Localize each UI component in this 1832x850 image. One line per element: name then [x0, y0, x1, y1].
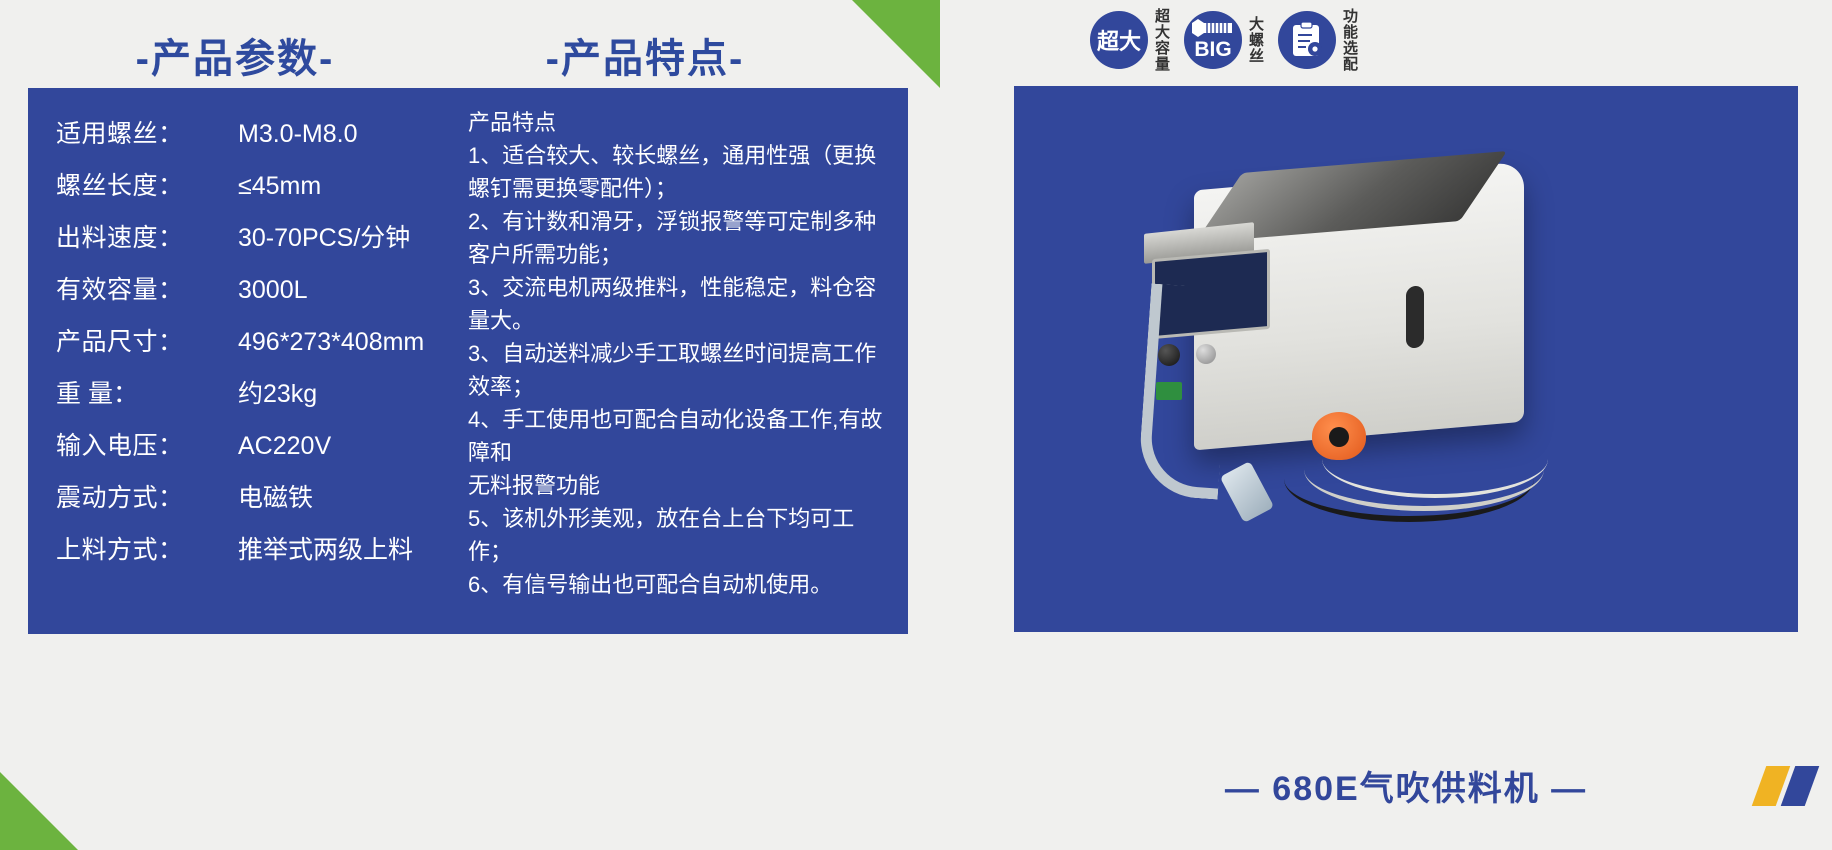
spec-label: 出料速度： — [56, 218, 224, 254]
machine-illustration — [1134, 136, 1564, 486]
spec-label: 上料方式： — [56, 530, 224, 566]
badge-caption: 大螺丝 — [1246, 16, 1264, 64]
green-corner-decoration-bottom — [0, 772, 78, 850]
feature-item: 无料报警功能 — [468, 469, 886, 502]
spec-label: 有效容量： — [56, 270, 224, 306]
feature-item: 1、适合较大、较长螺丝，通用性强（更换螺钉需更换零配件）； — [468, 139, 886, 205]
feature-item: 6、有信号输出也可配合自动机使用。 — [468, 568, 886, 601]
feature-item: 3、交流电机两级推料，性能稳定，料仓容量大。 — [468, 271, 886, 337]
screw-icon: BIG — [1184, 11, 1242, 69]
feature-badges: 超大 超大容量 BIG 大螺丝 — [1090, 8, 1358, 72]
badge-caption: 功能选配 — [1340, 8, 1358, 72]
spec-label: 适用螺丝： — [56, 114, 224, 150]
spec-label: 螺丝长度： — [56, 166, 224, 202]
spec-value: M3.0-M8.0 — [224, 120, 357, 149]
spec-table: 适用螺丝： M3.0-M8.0 螺丝长度： ≤45mm 出料速度： 30-70P… — [56, 114, 476, 582]
badge-big-screw: BIG 大螺丝 — [1184, 11, 1264, 69]
machine-connector — [1220, 461, 1274, 523]
spec-label: 产品尺寸： — [56, 322, 224, 358]
spec-value: 30-70PCS/分钟 — [224, 218, 410, 254]
spec-value: 约23kg — [224, 374, 317, 410]
product-photo — [1014, 86, 1798, 632]
badge-circle-label: BIG — [1194, 38, 1231, 62]
feature-item: 2、有计数和滑牙，浮锁报警等可定制多种客户所需功能； — [468, 205, 886, 271]
spec-label: 震动方式： — [56, 478, 224, 514]
features-text-block: 产品特点 1、适合较大、较长螺丝，通用性强（更换螺钉需更换零配件）； 2、有计数… — [468, 106, 886, 601]
features-title: 产品特点 — [468, 106, 886, 139]
clipboard-gear-icon — [1278, 11, 1336, 69]
heading-product-features: -产品特点- — [470, 26, 820, 84]
right-panel: 超大 超大容量 BIG 大螺丝 — [980, 0, 1832, 850]
feature-item: 4、手工使用也可配合自动化设备工作,有故障和 — [468, 403, 886, 469]
product-title-bar: — 680E气吹供料机 — — [1014, 754, 1798, 816]
left-panel: -产品参数- -产品特点- 适用螺丝： M3.0-M8.0 螺丝长度： ≤45m… — [0, 0, 940, 850]
table-row: 产品尺寸： 496*273*408mm — [56, 322, 476, 374]
machine-hose — [1137, 283, 1233, 499]
table-row: 出料速度： 30-70PCS/分钟 — [56, 218, 476, 270]
section-headings: -产品参数- -产品特点- — [0, 12, 940, 86]
spec-value: ≤45mm — [224, 172, 321, 201]
table-row: 螺丝长度： ≤45mm — [56, 166, 476, 218]
page-title: — 680E气吹供料机 — — [1225, 761, 1587, 810]
spec-value: 推举式两级上料 — [224, 530, 413, 566]
machine-feeder-head — [1312, 412, 1366, 460]
capacity-icon: 超大 — [1090, 11, 1148, 69]
product-spec-page: -产品参数- -产品特点- 适用螺丝： M3.0-M8.0 螺丝长度： ≤45m… — [0, 0, 1832, 850]
spec-value: 3000L — [224, 276, 308, 305]
table-row: 适用螺丝： M3.0-M8.0 — [56, 114, 476, 166]
blue-content-box: 适用螺丝： M3.0-M8.0 螺丝长度： ≤45mm 出料速度： 30-70P… — [28, 88, 908, 634]
badge-caption: 超大容量 — [1152, 8, 1170, 72]
badge-capacity: 超大 超大容量 — [1090, 8, 1170, 72]
clipboard-gear-glyph — [1290, 21, 1324, 59]
screw-glyph — [1190, 19, 1236, 37]
table-row: 上料方式： 推举式两级上料 — [56, 530, 476, 582]
table-row: 输入电压： AC220V — [56, 426, 476, 478]
heading-product-params: -产品参数- — [60, 26, 410, 84]
spec-value: 496*273*408mm — [224, 328, 424, 357]
spec-label: 重 量： — [56, 374, 224, 410]
table-row: 震动方式： 电磁铁 — [56, 478, 476, 530]
table-row: 重 量： 约23kg — [56, 374, 476, 426]
feature-item: 5、该机外形美观，放在台上台下均可工作； — [468, 502, 886, 568]
table-row: 有效容量： 3000L — [56, 270, 476, 322]
machine-handle — [1406, 285, 1424, 349]
feature-item: 3、自动送料减少手工取螺丝时间提高工作效率； — [468, 337, 886, 403]
spec-value: 电磁铁 — [224, 478, 313, 514]
spec-label: 输入电压： — [56, 426, 224, 462]
spec-value: AC220V — [224, 432, 331, 461]
badge-function-option: 功能选配 — [1278, 8, 1358, 72]
